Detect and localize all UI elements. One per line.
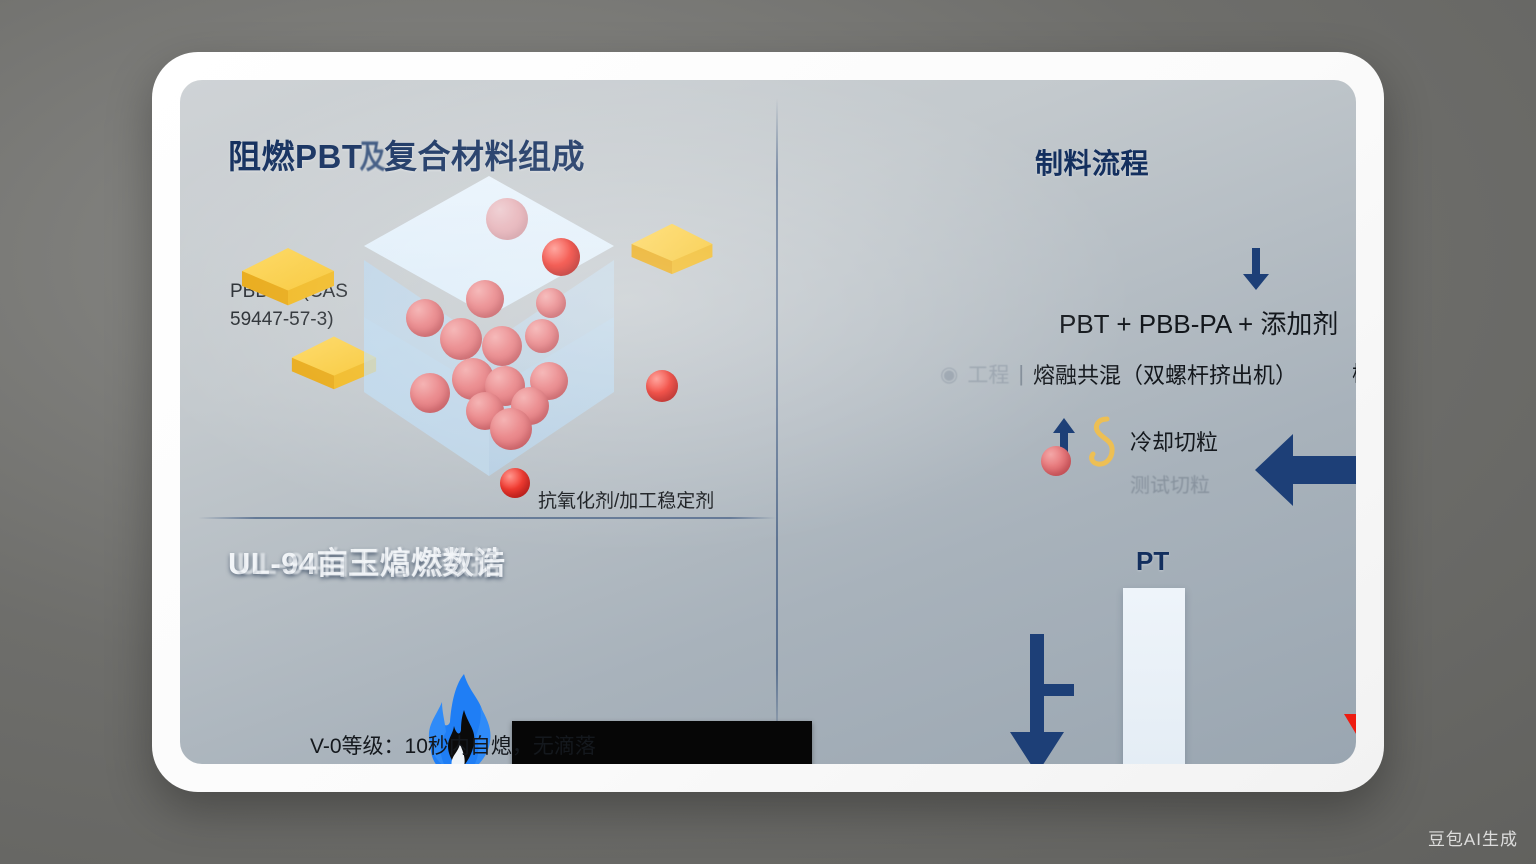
filler-sphere (490, 408, 532, 450)
horizontal-divider (198, 517, 776, 519)
infographic-canvas: 阻燃PBT及复合材料组成 PBB-PA (CAS 59447-57-3) (0, 0, 1536, 864)
arrow-down-red-icon (1342, 656, 1356, 764)
loi-bar-left (1123, 588, 1185, 764)
bar-label-pt: PT (1136, 546, 1169, 577)
inner-panel: 阻燃PBT及复合材料组成 PBB-PA (CAS 59447-57-3) (180, 80, 1356, 764)
ul94-title: UL-94亩玉熇燃数诰 (228, 538, 506, 583)
bent-arrow-left-icon (1253, 408, 1356, 528)
legend-sphere-marker (500, 468, 530, 498)
melt-step-row: ◉ 工程 | 熔融共混（双螺杆挤出机） (940, 358, 1297, 390)
gear-ghost-icon: ◉ (940, 362, 958, 387)
ul94-caption: V-0等级：10秒内自熄，无滴落 (310, 730, 596, 760)
filler-sphere (525, 319, 559, 353)
cool-step-sublabel: 测试切粒 (1130, 469, 1210, 498)
formula-text: PBT + PBB-PA + 添加剂 (1059, 304, 1338, 341)
stabilizer-sphere-outside (646, 370, 678, 402)
filler-sphere (406, 299, 444, 337)
filler-sphere (536, 288, 566, 318)
mold-step-label: 模压成测试样品 (1352, 358, 1356, 388)
vertical-divider (776, 98, 778, 748)
filler-sphere (440, 318, 482, 360)
melt-step-text: 熔融共混（双螺杆挤出机） (1033, 358, 1297, 390)
filler-sphere (410, 373, 450, 413)
arrow-down-icon (1004, 634, 1078, 764)
filler-sphere (482, 326, 522, 366)
cool-step-label: 冷却切粒 (1130, 425, 1218, 457)
filler-sphere (486, 198, 528, 240)
right-panel-title: 制料流程 (1035, 142, 1149, 182)
arrow-down-icon (1243, 248, 1269, 290)
cube-shape (364, 176, 614, 426)
additive-slab-icon (242, 248, 334, 310)
legend-label: 抗氧化剂/加工稳定剂 (538, 486, 714, 513)
additive-slab-icon (632, 224, 713, 279)
pellet-icon (1041, 446, 1071, 476)
watermark: 豆包AI生成 (1428, 825, 1518, 850)
melt-separator: | (1018, 361, 1024, 387)
filler-sphere (542, 238, 580, 276)
card-frame: 阻燃PBT及复合材料组成 PBB-PA (CAS 59447-57-3) (152, 52, 1384, 792)
filler-sphere (466, 280, 504, 318)
melt-ghost-prefix: 工程 (967, 359, 1009, 389)
coil-icon (1089, 415, 1119, 477)
ul94-title-text: UL-94亩玉熇燃数诰 (228, 538, 506, 583)
composite-cube-illustration (180, 80, 776, 517)
